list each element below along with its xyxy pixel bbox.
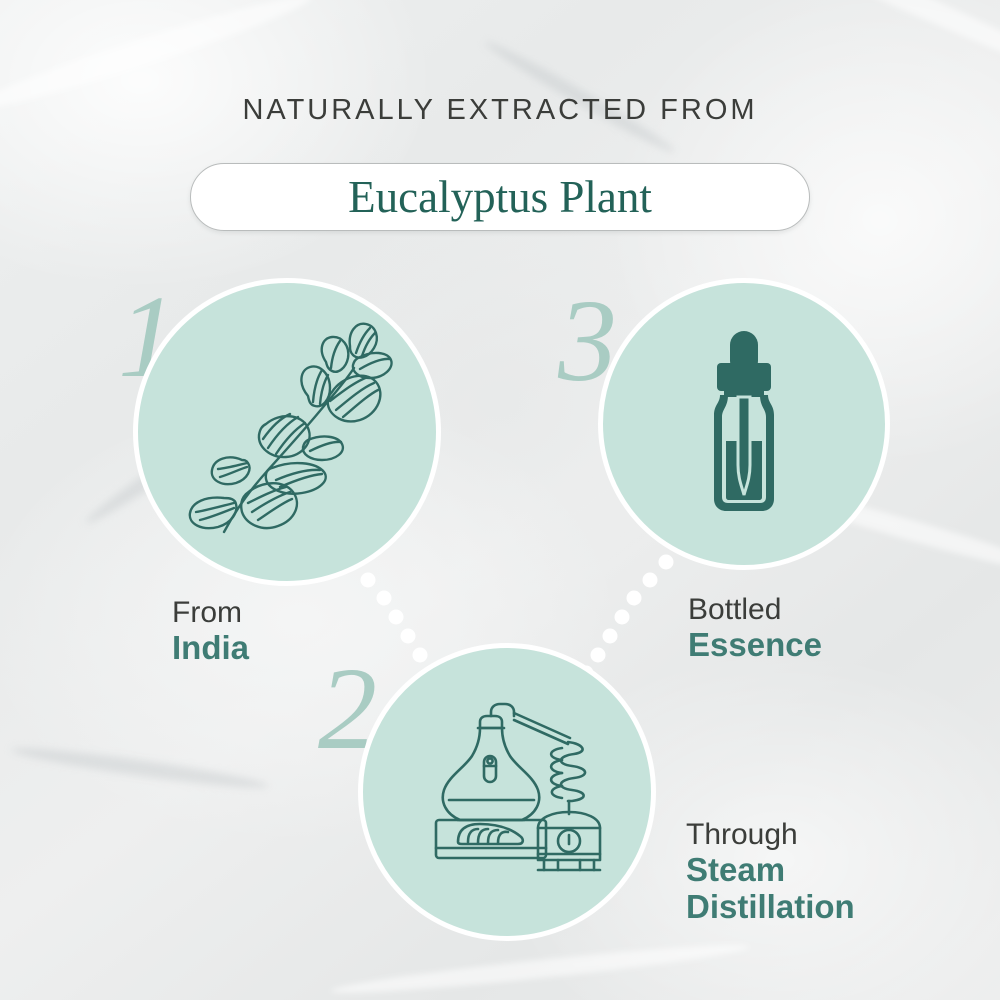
step-3-icon-circle — [598, 278, 890, 570]
step-2-caption-lead: Through — [686, 818, 855, 852]
connector-dots-step2-step3 — [568, 548, 688, 678]
step-2-caption-strong-2: Distillation — [686, 889, 855, 926]
page-eyebrow: NATURALLY EXTRACTED FROM — [0, 96, 1000, 125]
step-3-caption-strong: Essence — [688, 627, 822, 664]
step-2-caption-strong: Steam — [686, 852, 855, 889]
step-1-icon-circle — [133, 278, 441, 586]
step-3-caption-lead: Bottled — [688, 593, 822, 627]
eucalyptus-extraction-infographic: NATURALLY EXTRACTED FROM Eucalyptus Plan… — [0, 0, 1000, 1000]
step-3-caption: Bottled Essence — [688, 593, 822, 664]
step-2-caption: Through Steam Distillation — [686, 818, 855, 926]
eucalyptus-branch-icon — [180, 320, 395, 545]
step-1-caption-lead: From — [172, 596, 249, 630]
step-1-caption: From India — [172, 596, 249, 667]
page-title: Eucalyptus Plant — [348, 175, 652, 220]
step-2-icon-circle — [358, 643, 656, 941]
steam-distillation-still-icon — [402, 702, 612, 882]
step-1-caption-strong: India — [172, 630, 249, 667]
header: NATURALLY EXTRACTED FROM — [0, 96, 1000, 125]
plant-title-badge: Eucalyptus Plant — [190, 163, 810, 231]
marble-vein — [330, 938, 750, 1000]
marble-vein — [10, 742, 270, 794]
marble-vein — [714, 0, 1000, 96]
dropper-bottle-icon — [684, 329, 804, 519]
